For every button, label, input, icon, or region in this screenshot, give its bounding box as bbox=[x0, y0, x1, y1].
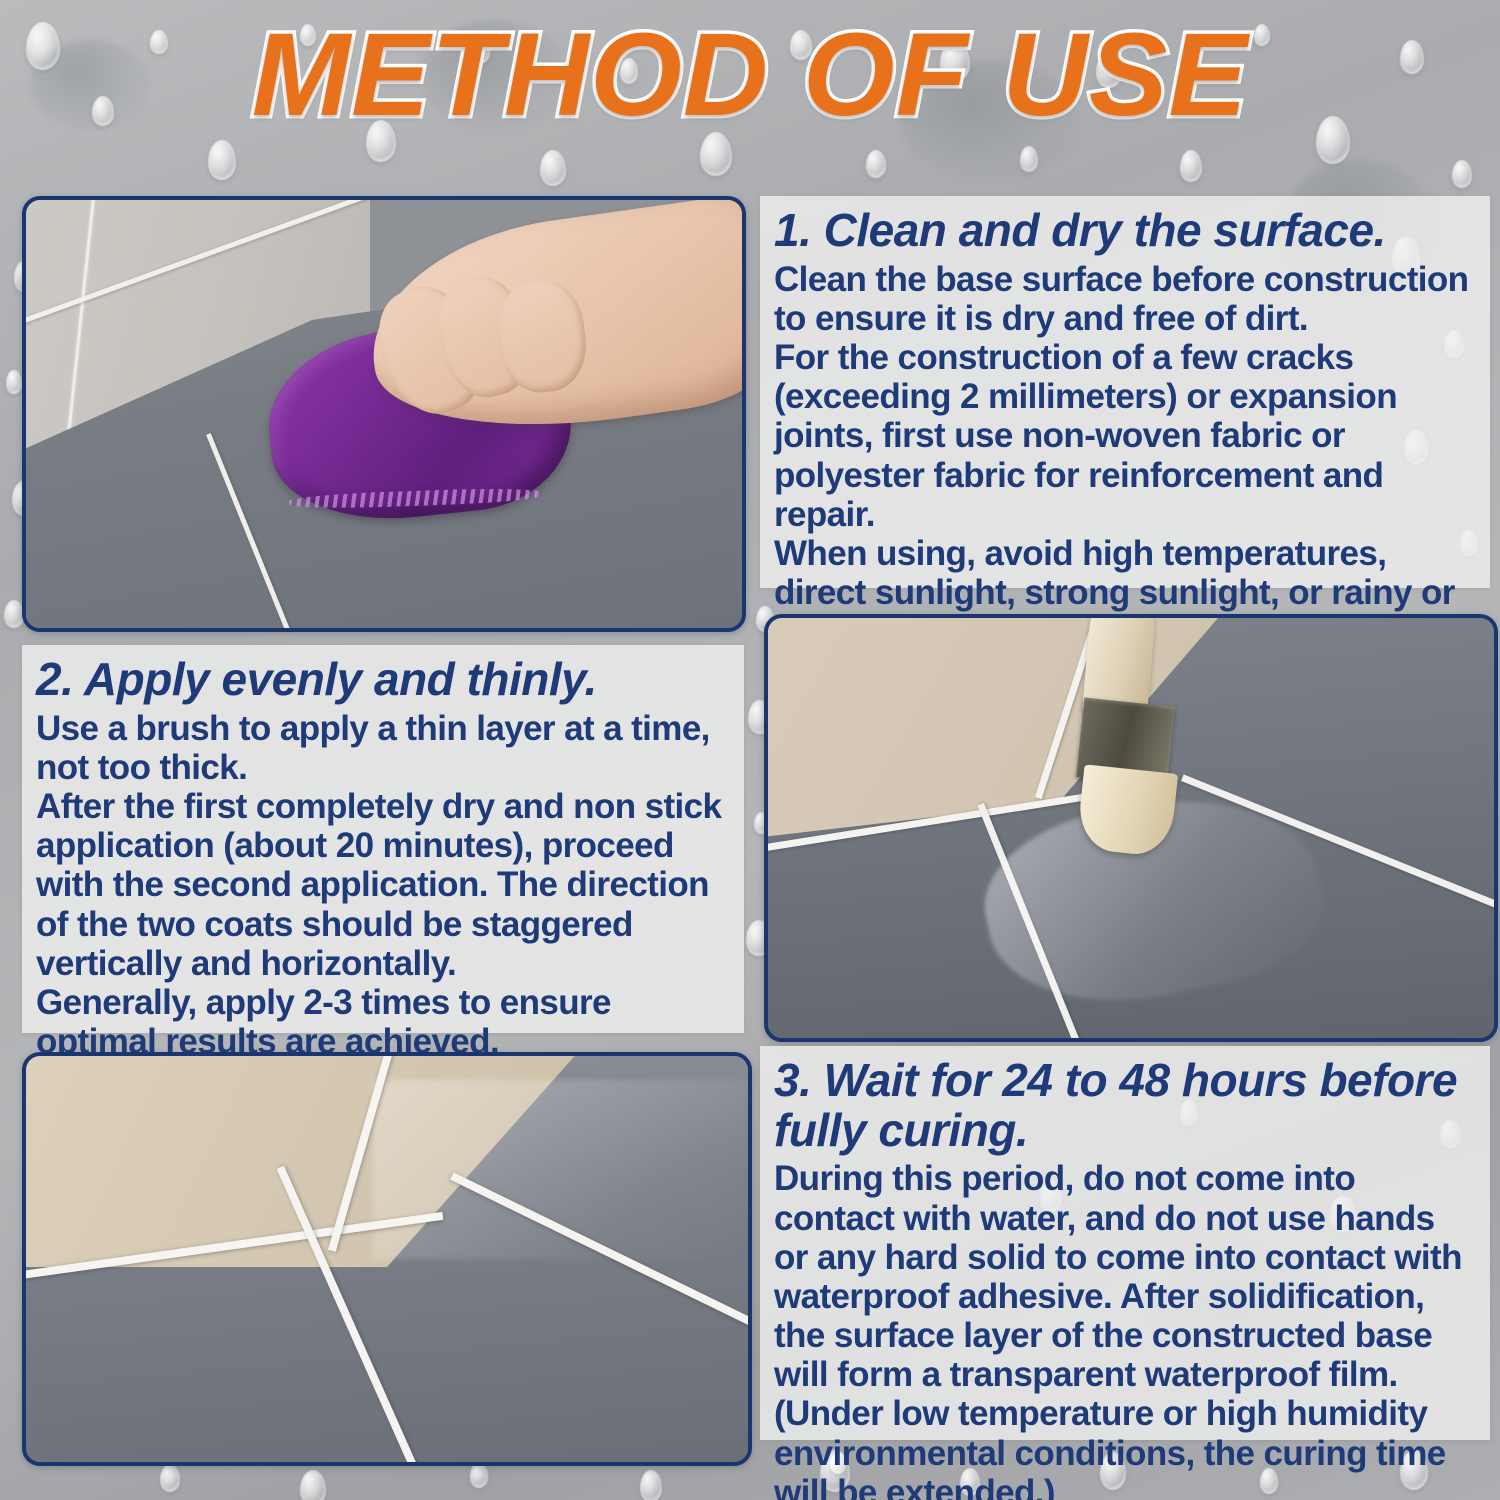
photo-content bbox=[26, 200, 742, 628]
step-2-text-card: 2. Apply evenly and thinly. Use a brush … bbox=[22, 645, 744, 1033]
photo-content bbox=[768, 618, 1494, 1038]
step-3-heading: 3. Wait for 24 to 48 hours before fully … bbox=[774, 1056, 1476, 1155]
infographic-page: METHOD OF USE 1. Clean and dry the surfa… bbox=[0, 0, 1500, 1500]
step-3-text-card: 3. Wait for 24 to 48 hours before fully … bbox=[760, 1046, 1490, 1440]
step-2-heading: 2. Apply evenly and thinly. bbox=[36, 655, 730, 705]
step-1-text-card: 1. Clean and dry the surface. Clean the … bbox=[760, 196, 1490, 588]
step-1-photo-cleaning-tile bbox=[22, 196, 746, 632]
step-2-body: Use a brush to apply a thin layer at a t… bbox=[36, 709, 730, 1062]
photo-content bbox=[26, 1056, 748, 1462]
page-title: METHOD OF USE bbox=[0, 14, 1500, 138]
step-2-photo-brush-application bbox=[764, 614, 1498, 1042]
step-1-body: Clean the base surface before constructi… bbox=[774, 260, 1476, 652]
step-3-body: During this period, do not come into con… bbox=[774, 1159, 1476, 1500]
step-3-photo-finished-tile bbox=[22, 1052, 752, 1466]
step-1-heading: 1. Clean and dry the surface. bbox=[774, 206, 1476, 256]
